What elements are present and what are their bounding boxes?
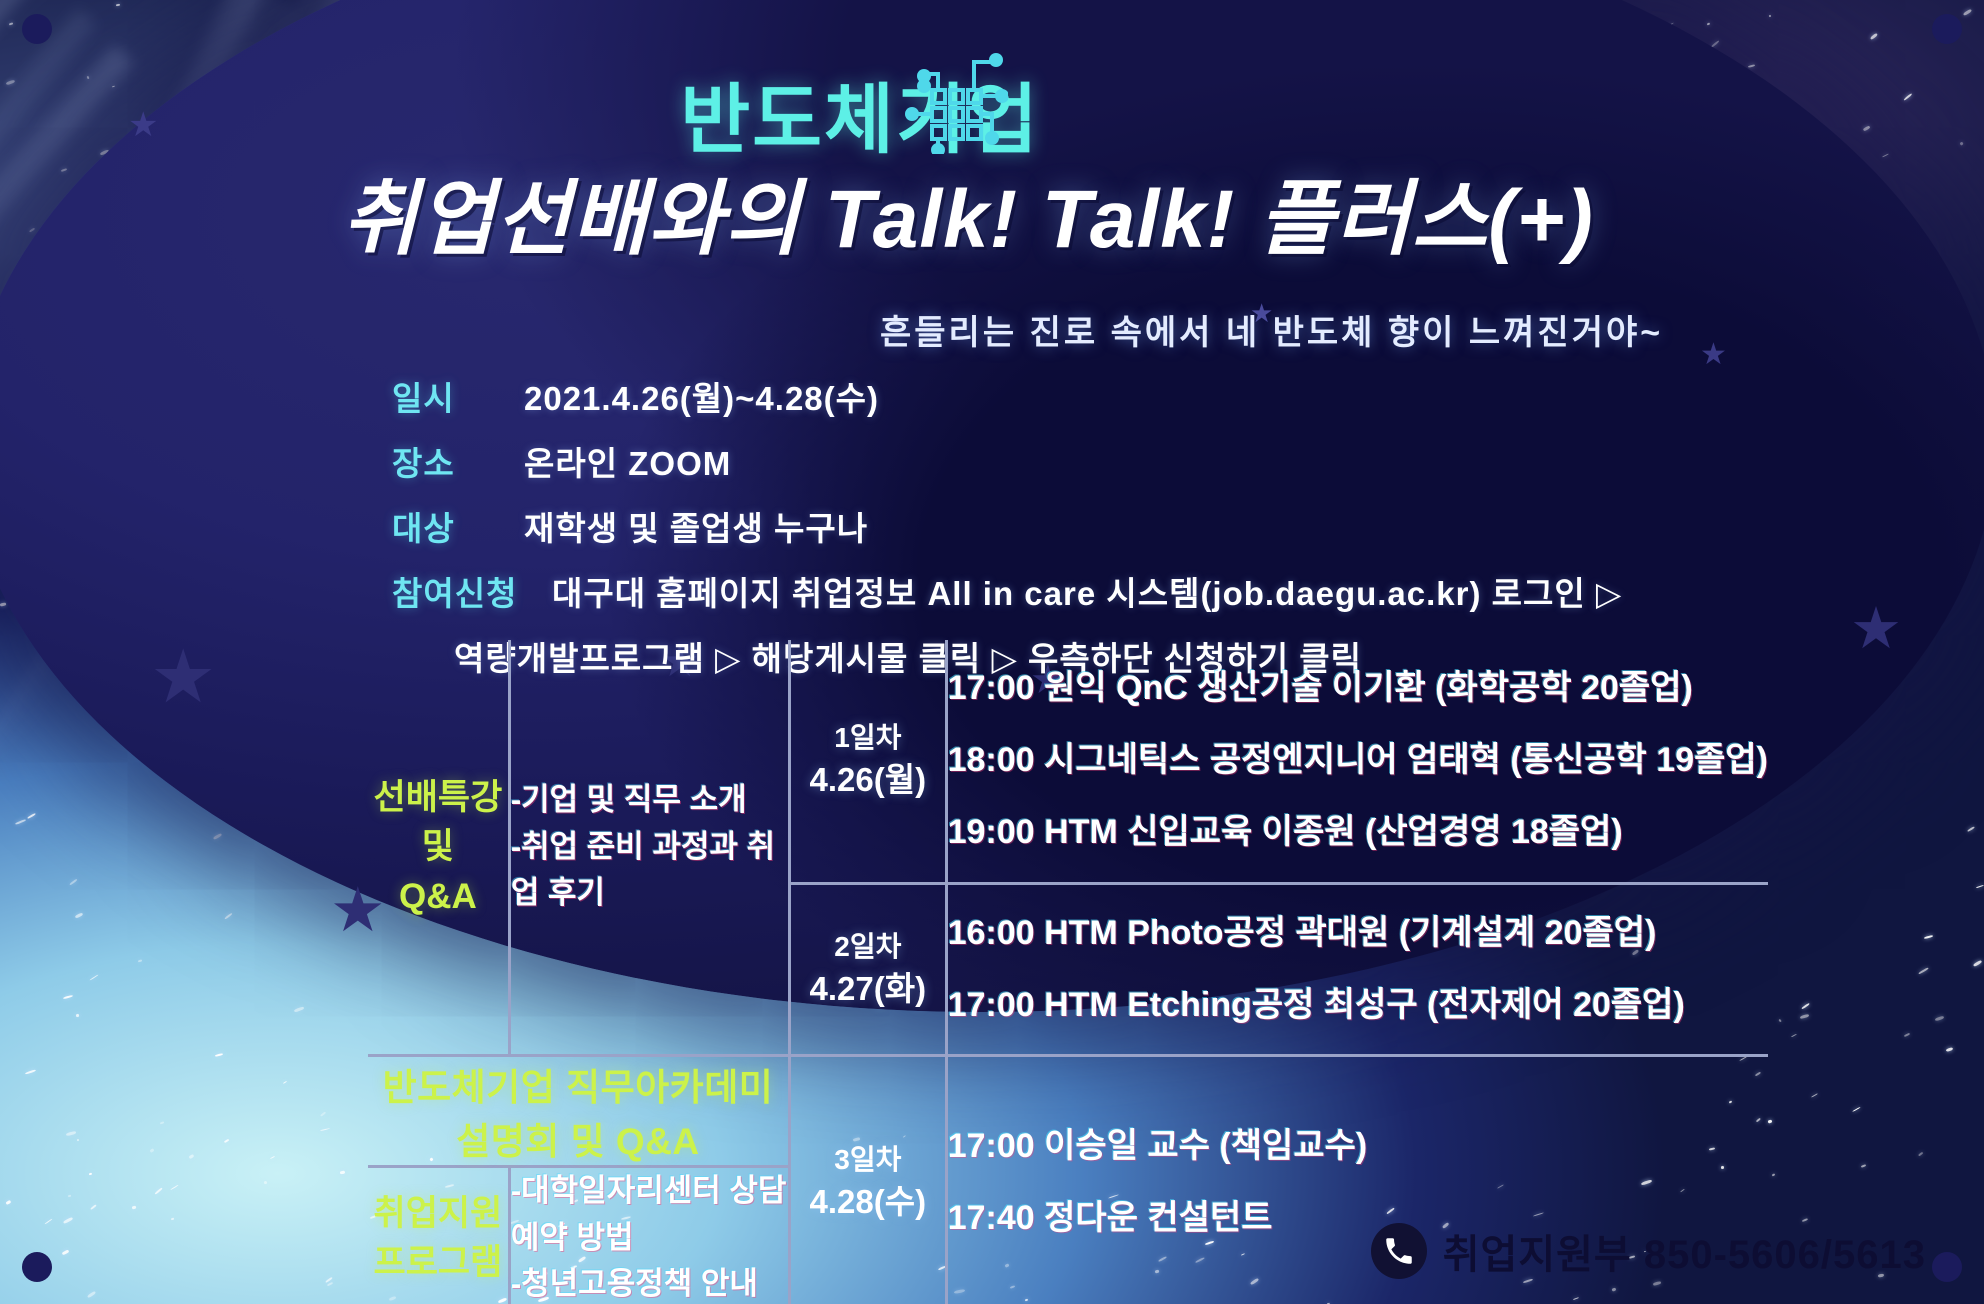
desc-support-line1: -대학일자리센터 상담예약 방법	[511, 1168, 788, 1261]
info-value-apply: 대구대 홈페이지 취업정보 All in care 시스템(job.daegu.…	[552, 567, 1622, 615]
circuit-chip-icon	[888, 46, 1008, 154]
info-row-audience: 대상 재학생 및 졸업생 누구나	[392, 502, 1622, 550]
category-lecture-line2: 및	[368, 822, 508, 872]
cell-category-lecture: 선배특강 및 Q&A	[368, 640, 509, 1056]
table-row: 반도체기업 직무아카데미 설명회 및 Q&A 3일차 4.28(수) 17:00…	[368, 1056, 1768, 1167]
day2-date: 4.27(화)	[791, 966, 945, 1012]
cell-category-support: 취업지원 프로그램	[368, 1167, 509, 1304]
day1-date: 4.26(월)	[791, 757, 945, 803]
page-title-line2: 취업선배와의 Talk! Talk! 플러스(+)	[0, 152, 1960, 271]
info-row-date: 일시 2021.4.26(월)~4.28(수)	[392, 372, 1622, 420]
info-row-apply: 참여신청 대구대 홈페이지 취업정보 All in care 시스템(job.d…	[392, 567, 1622, 615]
info-value-place: 온라인 ZOOM	[524, 437, 731, 485]
day3-number: 3일차	[791, 1140, 945, 1179]
table-row: 선배특강 및 Q&A -기업 및 직무 소개 -취업 준비 과정과 취업 후기 …	[368, 640, 1768, 883]
desc-lecture-line1: -기업 및 직무 소개	[511, 777, 788, 824]
category-lecture-line1: 선배특강	[368, 773, 508, 823]
info-row-place: 장소 온라인 ZOOM	[392, 437, 1622, 485]
session-item: 19:00 HTM 신입교육 이종원 (산업경영 18졸업)	[948, 810, 1768, 856]
session-item: 17:00 이승일 교수 (책임교수)	[948, 1124, 1768, 1170]
cell-desc-support: -대학일자리센터 상담예약 방법 -청년고용정책 안내	[509, 1167, 789, 1304]
phone-icon	[1371, 1223, 1427, 1279]
category-support-line1: 취업지원	[368, 1189, 508, 1239]
session-item: 17:00 HTM Etching공정 최성구 (전자제어 20졸업)	[948, 983, 1768, 1029]
cell-day3: 3일차 4.28(수)	[789, 1056, 946, 1304]
footer-contact-text: 취업지원부 850-5606/5613	[1443, 1222, 1926, 1280]
cell-desc-lecture: -기업 및 직무 소개 -취업 준비 과정과 취업 후기	[509, 640, 789, 1056]
session-item: 16:00 HTM Photo공정 곽대원 (기계설계 20졸업)	[948, 911, 1768, 957]
info-value-audience: 재학생 및 졸업생 누구나	[524, 502, 868, 550]
info-label-apply: 참여신청	[392, 567, 552, 615]
cell-sessions-day2: 16:00 HTM Photo공정 곽대원 (기계설계 20졸업) 17:00 …	[946, 883, 1768, 1056]
info-label-place: 장소	[392, 437, 524, 485]
day3-date: 4.28(수)	[791, 1179, 945, 1225]
page-tagline: 흔들리는 진로 속에서 네 반도체 향이 느껴진거야~	[880, 305, 1663, 354]
poster-canvas: ★ ★ ★ ★ ★ ★ ★ ★ 반도체기업	[0, 0, 1984, 1304]
desc-lecture-line2: -취업 준비 과정과 취업 후기	[511, 824, 788, 917]
schedule-table: 선배특강 및 Q&A -기업 및 직무 소개 -취업 준비 과정과 취업 후기 …	[368, 640, 1768, 1304]
day1-number: 1일차	[791, 718, 945, 757]
event-info-block: 일시 2021.4.26(월)~4.28(수) 장소 온라인 ZOOM 대상 재…	[392, 372, 1622, 680]
session-item: 17:00 원익 QnC 생산기술 이기환 (화학공학 20졸업)	[948, 666, 1768, 712]
session-item: 18:00 시그네틱스 공정엔지니어 엄태혁 (통신공학 19졸업)	[948, 738, 1768, 784]
footer-contact: 취업지원부 850-5606/5613	[1371, 1222, 1926, 1280]
desc-support-line2: -청년고용정책 안내	[511, 1261, 788, 1304]
cell-sessions-day1: 17:00 원익 QnC 생산기술 이기환 (화학공학 20졸업) 18:00 …	[946, 640, 1768, 883]
cell-day1: 1일차 4.26(월)	[789, 640, 946, 883]
cell-day2: 2일차 4.27(화)	[789, 883, 946, 1056]
category-support-line2: 프로그램	[368, 1238, 508, 1288]
day2-number: 2일차	[791, 927, 945, 966]
info-label-date: 일시	[392, 372, 524, 420]
banner-academy: 반도체기업 직무아카데미 설명회 및 Q&A	[368, 1056, 789, 1167]
info-value-date: 2021.4.26(월)~4.28(수)	[524, 372, 879, 420]
category-lecture-line3: Q&A	[368, 872, 508, 922]
info-label-audience: 대상	[392, 502, 524, 550]
